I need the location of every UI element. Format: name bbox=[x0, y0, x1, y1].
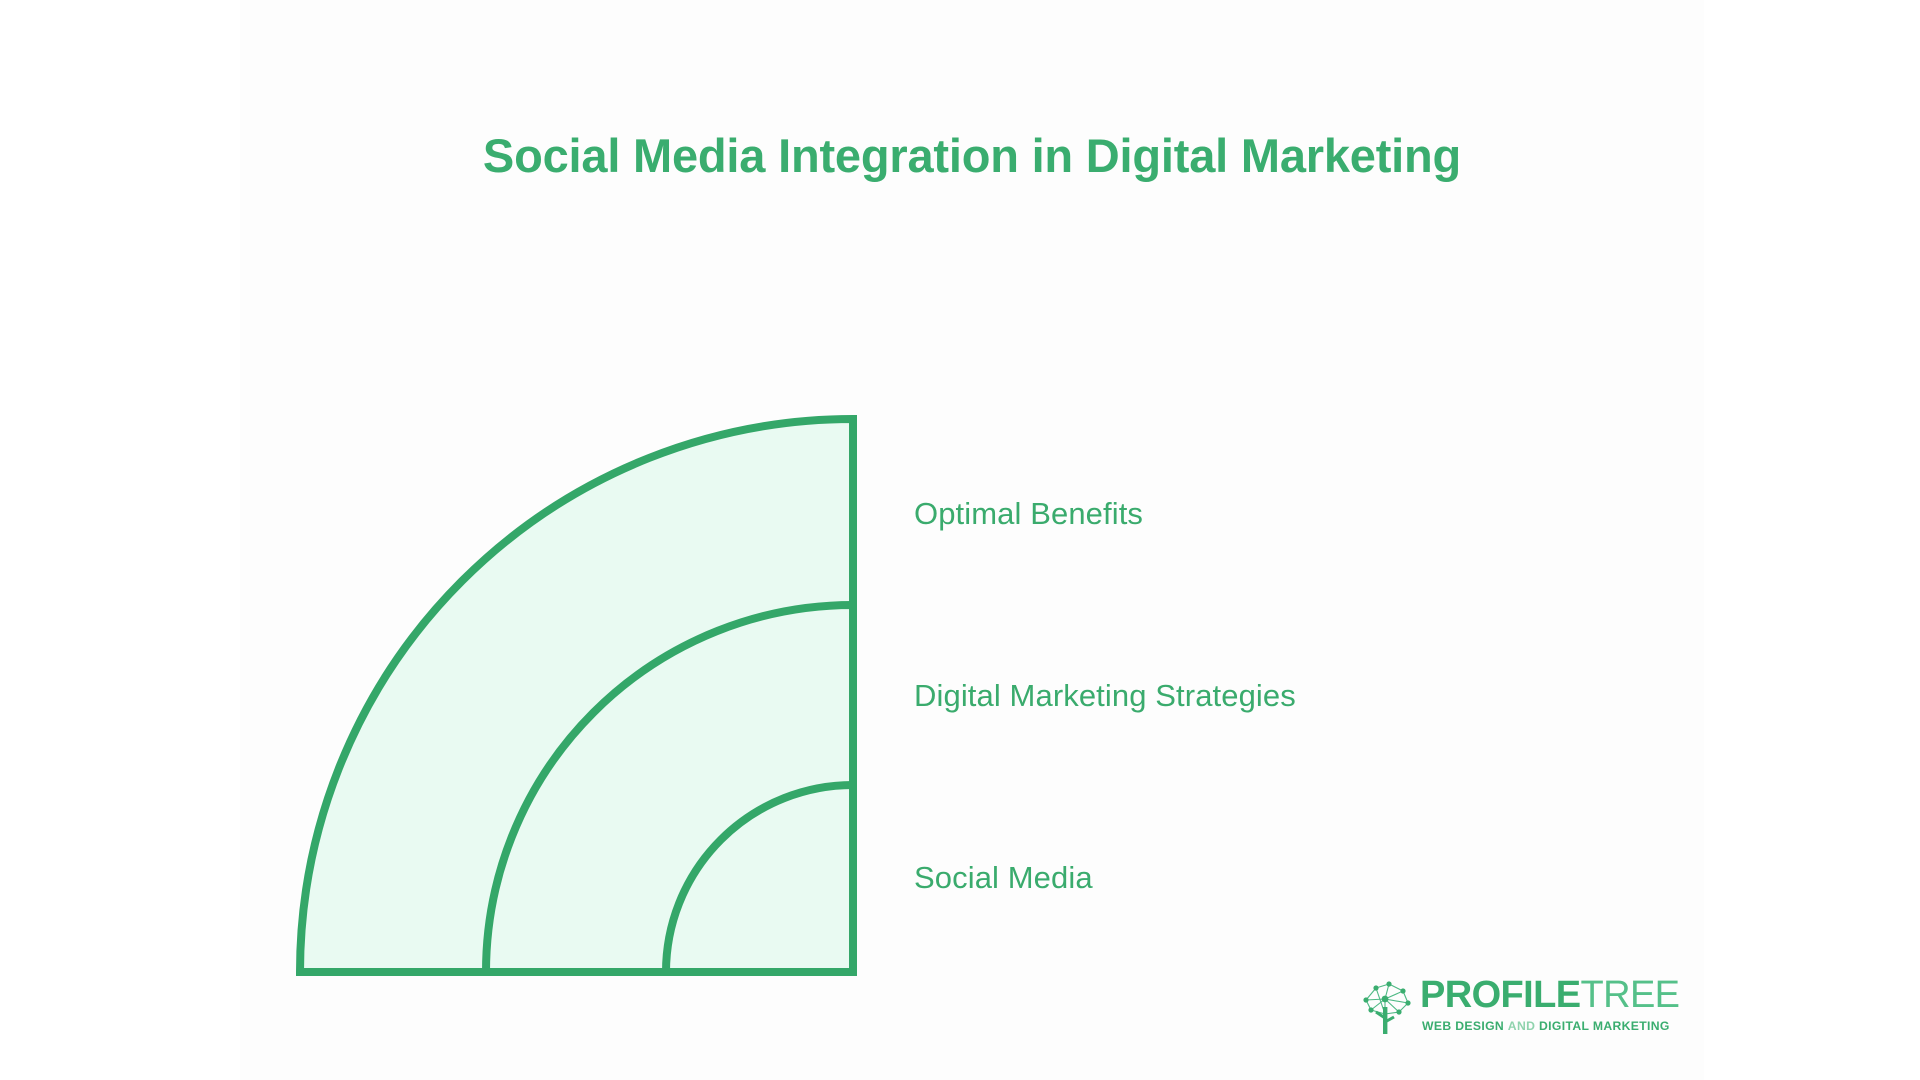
arc-label-social-media: Social Media bbox=[914, 860, 1093, 896]
profiletree-logo[interactable]: PROFILETREE WEB DESIGN AND DIGITAL MARKE… bbox=[1354, 972, 1632, 1044]
logo-wordmark: PROFILETREE bbox=[1420, 976, 1679, 1014]
logo-word-profile: PROFILE bbox=[1420, 974, 1580, 1016]
nested-arc-chart bbox=[290, 412, 866, 984]
logo-tagline-part-a: WEB DESIGN bbox=[1422, 1019, 1504, 1033]
logo-tagline-part-b: DIGITAL MARKETING bbox=[1539, 1019, 1670, 1033]
arc-label-optimal-benefits: Optimal Benefits bbox=[914, 496, 1143, 532]
logo-tagline: WEB DESIGN AND DIGITAL MARKETING bbox=[1422, 1020, 1670, 1033]
logo-word-tree: TREE bbox=[1580, 974, 1679, 1016]
arc-label-digital-marketing-strategies: Digital Marketing Strategies bbox=[914, 678, 1296, 714]
slide-canvas: Social Media Integration in Digital Mark… bbox=[0, 0, 1920, 1080]
profiletree-network-tree-icon bbox=[1354, 974, 1416, 1036]
arc-chart-svg bbox=[290, 412, 866, 984]
logo-tagline-part-and: AND bbox=[1508, 1019, 1535, 1033]
page-title: Social Media Integration in Digital Mark… bbox=[240, 128, 1704, 183]
